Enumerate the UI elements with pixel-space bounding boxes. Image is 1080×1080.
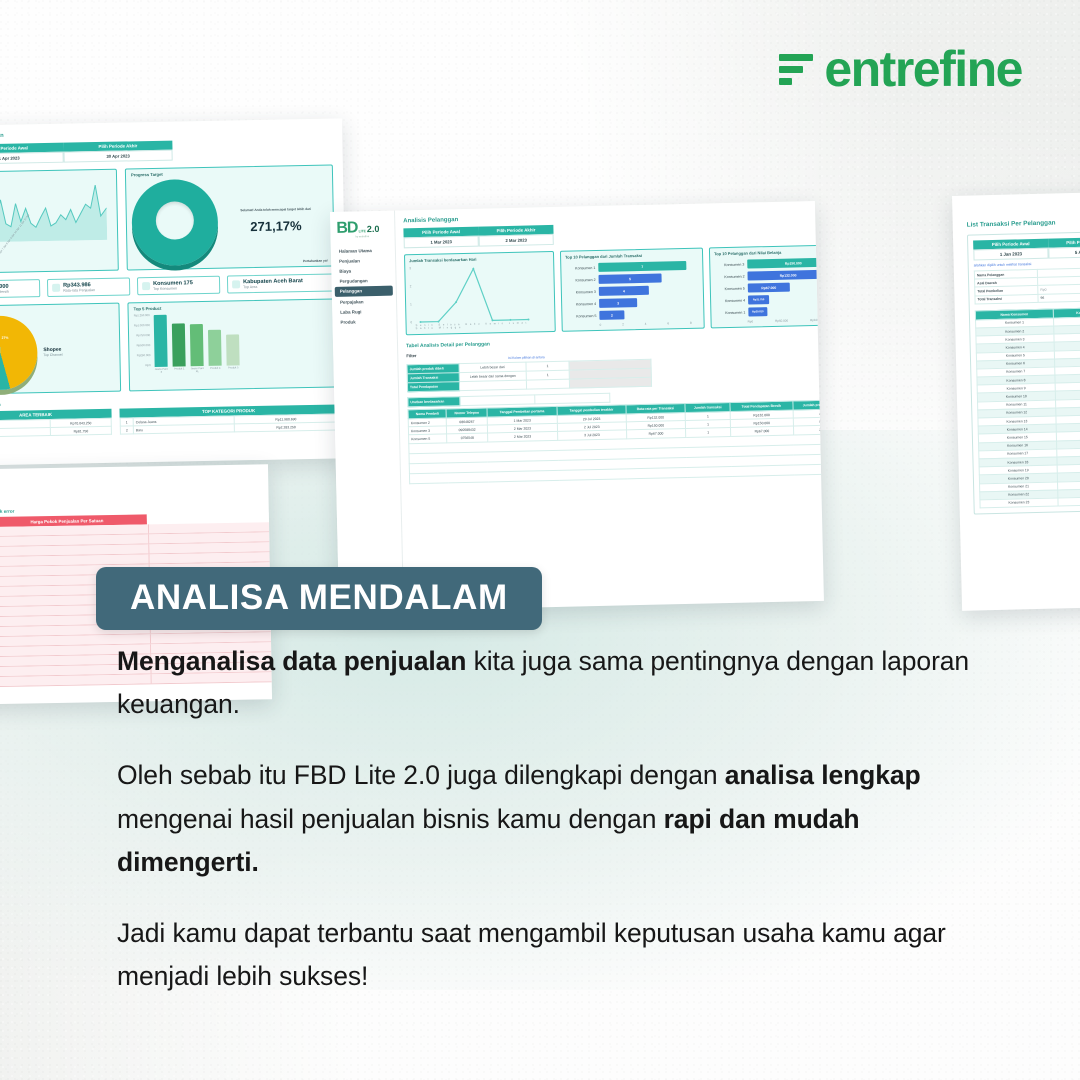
- bar1-x-axis: 02468: [567, 321, 692, 328]
- summary-fields: Nama Pelanggan Asal Daerah Total Pembeli…: [974, 267, 1080, 304]
- period-end-value[interactable]: 2 Mar 2023: [479, 234, 554, 247]
- stat-card: Rp343.986 Rata-rata Penjualan: [47, 277, 130, 297]
- headline-text: ANALISA MENDALAM: [130, 578, 508, 617]
- stacked-bars-logo-icon: [779, 48, 815, 90]
- p1-bold: Menganalisa data penjualan: [117, 646, 466, 676]
- bar1-title: Top 10 Pelanggan dari Jumlah Transaksi: [565, 252, 698, 260]
- top10-belanja-bar-chart: Konsumen 3Rp150.000 Konsumen 2Rp132.000 …: [714, 257, 824, 317]
- p2-c: mengenai hasil penjualan bisnis kamu den…: [117, 804, 664, 834]
- table-row: Aceh BaratRp81.750: [0, 426, 111, 437]
- p2-a: Oleh sebab itu FBD Lite 2.0 juga dilengk…: [117, 760, 725, 790]
- top5-y-axis: Rp1.250.000Rp1.000.000Rp750.000Rp500.000…: [134, 313, 151, 367]
- screenshot-list-transaksi: List Transaksi Per Pelanggan Pilih Perio…: [952, 190, 1080, 611]
- stat-sub: Top Area: [243, 284, 303, 289]
- bar-row: Konsumen 43: [566, 297, 699, 309]
- top10-transaksi-bar-chart: Konsumen 17 Konsumen 25 Konsumen 34 Kons…: [565, 261, 699, 321]
- paragraph-2: Oleh sebab itu FBD Lite 2.0 juga dilengk…: [117, 754, 997, 884]
- period-start-value[interactable]: 1 Apr 2023: [0, 152, 64, 165]
- channel-pie-chart: 27% 27% 46%: [0, 315, 38, 390]
- progress-footer: Pertahankan ya!: [303, 259, 328, 263]
- bar2-title: Top 10 Pelanggan dari Nilai Belanja: [714, 248, 824, 256]
- bar-row: Konsumen 4Rp31.750: [715, 293, 824, 305]
- bar-row: Konsumen 5Rp67.000: [715, 281, 824, 293]
- stat-sub: Rata-rata Penjualan: [63, 288, 95, 293]
- pie-label-shopee: 27%: [2, 336, 9, 340]
- period-start-value[interactable]: 1 Mar 2023: [404, 236, 479, 249]
- category-table: 1Celana JeansRp11.980.690 2BaruRp2.283.2…: [120, 413, 338, 435]
- area-table: Kabupaten Aceh BaratRp70.043.250 Aceh Ba…: [0, 418, 112, 438]
- bar-row: Konsumen 2Rp132.000: [714, 269, 823, 281]
- period-end-value[interactable]: 5 Apr 2023: [1048, 246, 1080, 259]
- detail-table: Nama Pembeli Nomor Telepon Tanggal Pembe…: [407, 399, 823, 484]
- line-chart-title: Jumlah Transaksi berdasarkan Hari: [409, 255, 549, 263]
- bar-row: Konsumen 3Rp150.000: [714, 257, 824, 269]
- location-icon: [232, 280, 240, 288]
- stat-card: Konsumen 175 Top Konsumen: [137, 276, 220, 296]
- body-copy: Menganalisa data penjualan kita juga sam…: [117, 640, 997, 998]
- period-end-value[interactable]: 30 Apr 2023: [64, 150, 173, 163]
- channel-analysis-card: Channel Analysis 27% 27% 46% Shopee Top …: [0, 303, 121, 395]
- konsumen-table: Nama KonsumenKode Transaksi Konsumen 1A-…: [975, 307, 1080, 509]
- bar2-x-axis: Rp0Rp50.000Rp100.000: [716, 317, 824, 324]
- bar-row: Konsumen 1Rp29.810: [715, 305, 824, 317]
- headline-badge: ANALISA MENDALAM: [96, 567, 542, 630]
- trend-x-axis: 1 Apr 2 Apr 3 Apr 4 Apr 5 Apr 6 Apr 7 Ap…: [0, 245, 113, 251]
- average-icon: [52, 284, 60, 292]
- p2-b: analisa lengkap: [725, 760, 921, 790]
- screenshot-analisis-pelanggan: BD LITE 2.0 by entrefine Halaman Utama P…: [330, 201, 824, 612]
- top5-product-card: Top 5 Product Rp1.250.000Rp1.000.000Rp75…: [127, 298, 337, 391]
- channel-winner-sub: Top Channel: [43, 353, 62, 357]
- customer-icon: [142, 282, 150, 290]
- sidebar-item-produk[interactable]: Produk: [335, 316, 393, 328]
- line-y-axis: 3210: [409, 266, 412, 324]
- sidebar-menu[interactable]: Halaman Utama Penjualan Biaya Pergudanga…: [334, 245, 394, 328]
- top5-bar-chart: [154, 311, 240, 367]
- paragraph-3: Jadi kamu dapat terbantu saat mengambil …: [117, 912, 997, 998]
- daily-transactions-line-chart: [413, 263, 538, 324]
- filter-table[interactable]: Jumlah produk dibeliLebih besar dari1 Ju…: [406, 359, 652, 393]
- progress-target-card: Progress Target Selamat! Anda telah menc…: [125, 165, 335, 271]
- screenshot-analisis-penjualan: Analisis Penjualan Pilih Periode Awal 1 …: [0, 118, 348, 466]
- progress-value: 271,17%: [224, 217, 328, 234]
- stat-sub: Top Konsumen: [153, 286, 193, 291]
- brand-logo: entrefine: [779, 44, 1022, 94]
- bar-row: Konsumen 34: [566, 285, 699, 297]
- paragraph-1: Menganalisa data penjualan kita juga sam…: [117, 640, 997, 726]
- bar-row: Konsumen 17: [565, 261, 698, 273]
- top10-belanja-card: Top 10 Pelanggan dari Nilai Belanja Kons…: [709, 244, 824, 328]
- stat-card: Kabupaten Aceh Barat Top Area: [227, 273, 335, 293]
- daily-transactions-card: Jumlah Transaksi berdasarkan Hari 3210 S…: [404, 251, 556, 335]
- progress-note: Selamat! Anda telah mencapai target lebi…: [224, 207, 328, 213]
- shot-left-title: Analisis Penjualan: [0, 127, 332, 140]
- top10-transaksi-card: Top 10 Pelanggan dari Jumlah Transaksi K…: [560, 248, 705, 332]
- top5-x-axis: Jeans Pant 3 Produk 1 Jeans Pant XL Prod…: [155, 366, 240, 374]
- progress-donut-chart: [131, 179, 219, 267]
- stat-sub: Total Penjualan Bersih: [0, 290, 9, 295]
- bar-row: Konsumen 52: [566, 309, 699, 321]
- trend-chart-card: Trend 1 Apr 2 Apr 3 Apr 4 Apr 5 Apr 6 Ap…: [0, 169, 119, 274]
- shot-right-title: List Transaksi Per Pelanggan: [967, 216, 1080, 229]
- period-start-value[interactable]: 1 Jan 2023: [973, 248, 1048, 261]
- stat-card: Rp71.135.000 Total Penjualan Bersih: [0, 279, 40, 299]
- sidebar: BD LITE 2.0 by entrefine Halaman Utama P…: [330, 211, 404, 612]
- bar-row: Konsumen 25: [566, 273, 699, 285]
- shot-center-title: Analisis Pelanggan: [403, 208, 824, 224]
- progress-title: Progress Target: [131, 169, 327, 178]
- brand-name: entrefine: [824, 44, 1022, 94]
